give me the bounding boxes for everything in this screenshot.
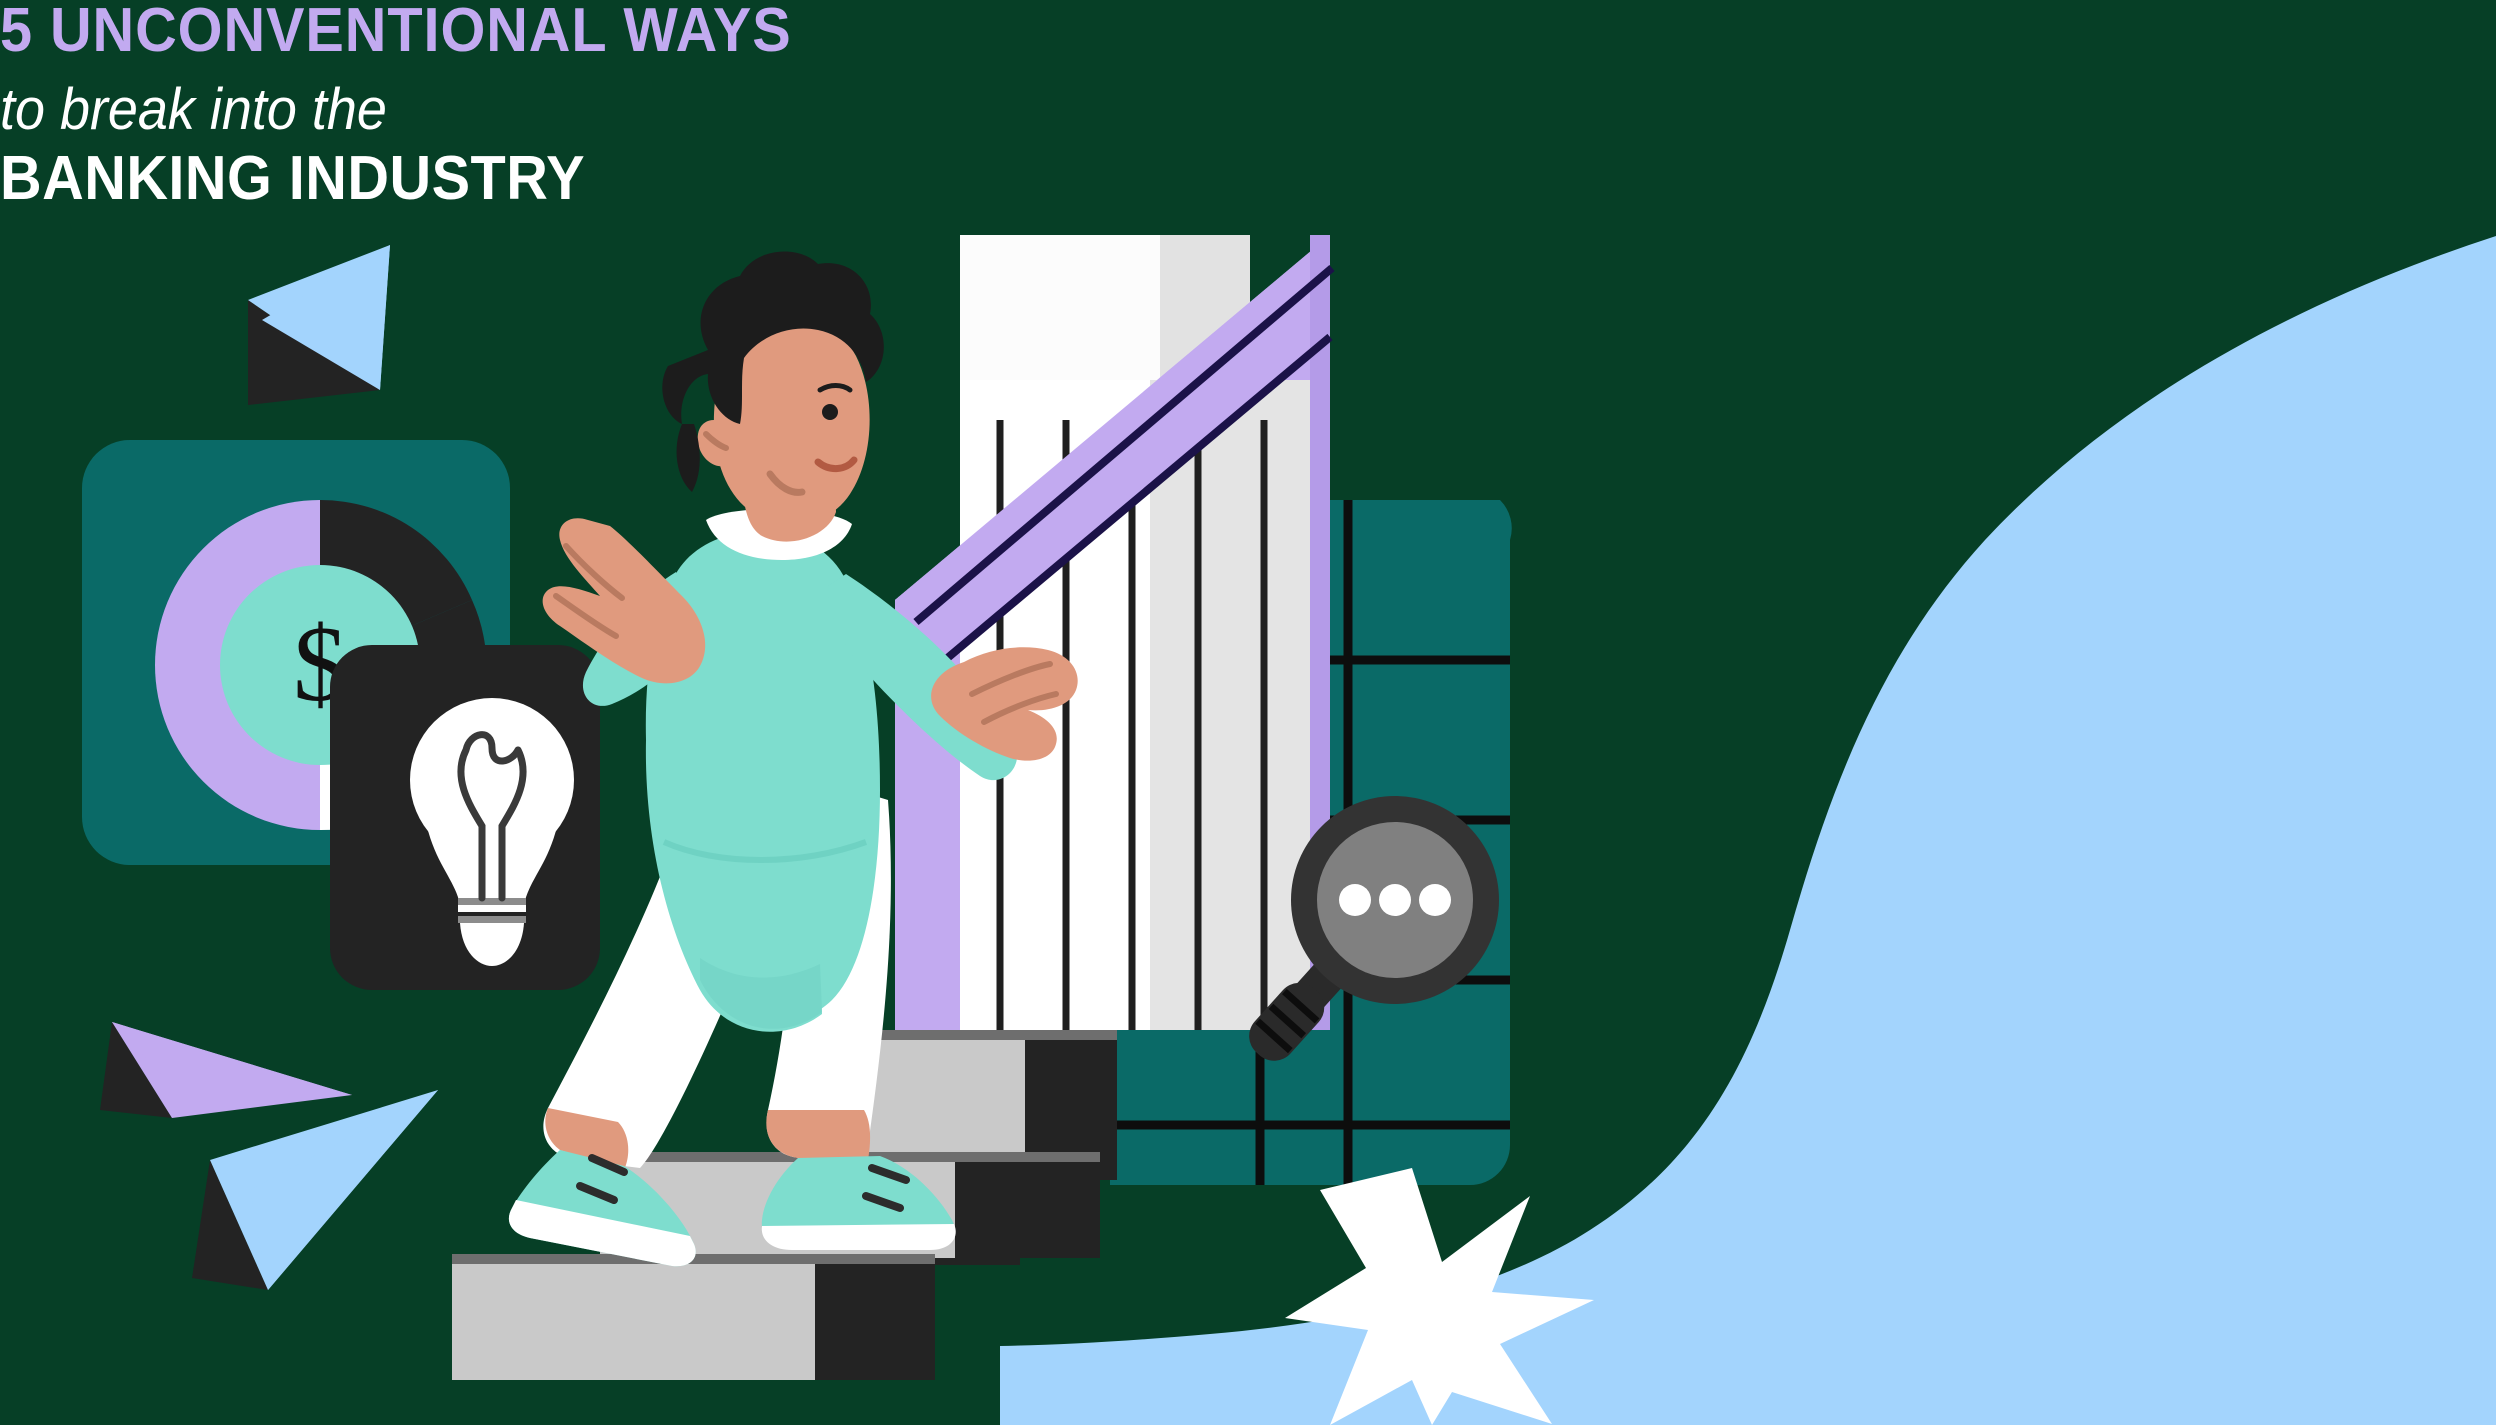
magnifier-dot-2 xyxy=(1379,884,1411,916)
paper-airplane-blue-bottom-icon xyxy=(192,1090,438,1290)
magnifier-dot-1 xyxy=(1339,884,1371,916)
bank-building xyxy=(895,235,1332,1030)
dark-card-lightbulb xyxy=(330,645,600,990)
paper-airplane-blue-top-icon xyxy=(248,245,390,405)
headline-line-3: BANKING INDUSTRY xyxy=(0,146,1004,211)
paper-airplane-purple-icon xyxy=(100,1022,352,1118)
headline-line-2: to break into the xyxy=(0,76,1004,144)
banner-canvas: $ xyxy=(0,0,2496,1425)
illustration-group: $ xyxy=(0,0,1620,1425)
character-eye xyxy=(822,404,838,420)
headline-line-1: 5 UNCONVENTIONAL WAYS xyxy=(0,0,1004,62)
magnifier-dot-3 xyxy=(1419,884,1451,916)
starburst-icon xyxy=(1285,1168,1594,1425)
headline-block: 5 UNCONVENTIONAL WAYS to break into the … xyxy=(0,0,1080,212)
